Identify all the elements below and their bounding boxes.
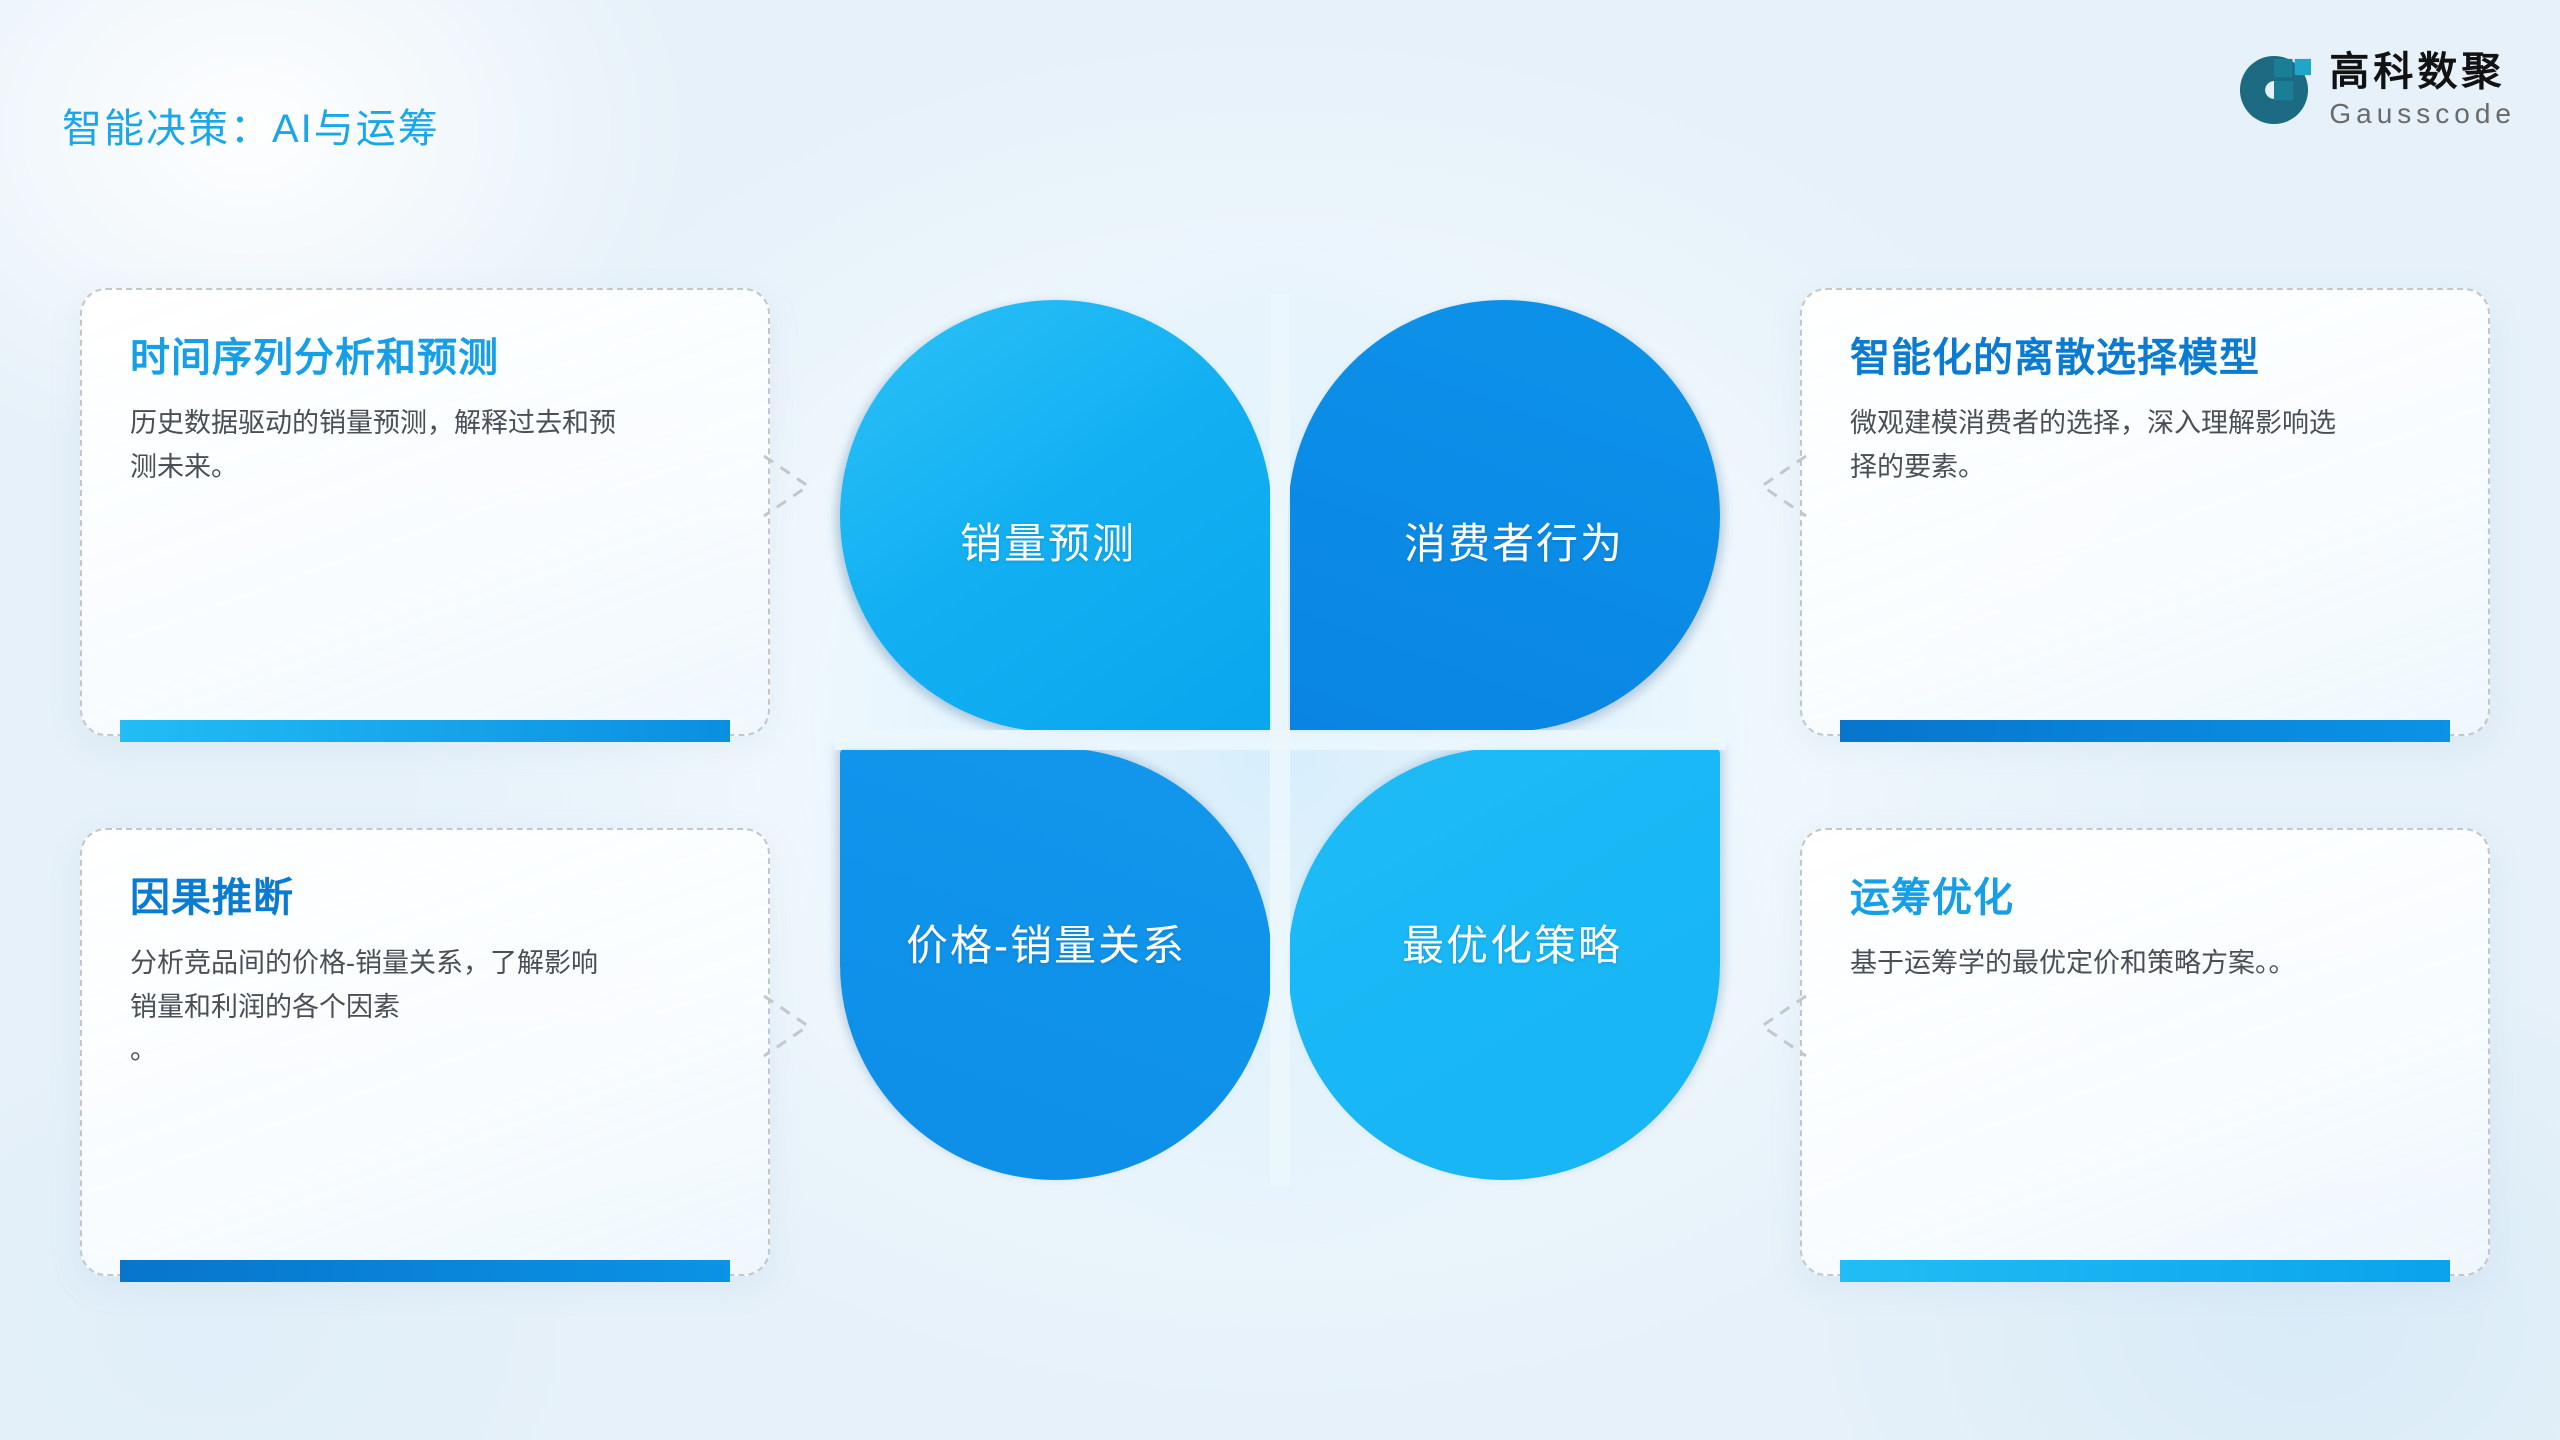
petal-sales-forecast[interactable]: 销量预测	[840, 300, 1272, 732]
card-title-time-series: 时间序列分析和预测	[130, 334, 720, 382]
petal-label-sales-forecast: 销量预测	[960, 510, 1136, 571]
petal-optimal-strategy[interactable]: 最优化策略	[1288, 748, 1720, 1180]
brand-logo: 高科数聚 Gausscode	[2237, 52, 2516, 128]
petal-label-price-volume: 价格-销量关系	[906, 912, 1186, 973]
petal-divider-vertical	[1270, 294, 1290, 1186]
petal-price-volume[interactable]: 价格-销量关系	[840, 748, 1272, 1180]
card-operations-research[interactable]: 运筹优化 基于运筹学的最优定价和策略方案。。	[1800, 828, 2490, 1276]
flower-diagram: 销量预测 消费者行为 价格-销量关系 最优化策略	[840, 300, 1720, 1180]
gausscode-logo-icon	[2237, 53, 2311, 127]
card-accent-bar-operations-research	[1840, 1260, 2450, 1282]
logo-en-name: Gausscode	[2329, 100, 2516, 128]
card-title-operations-research: 运筹优化	[1850, 874, 2440, 922]
card-body-discrete-choice: 微观建模消费者的选择，深入理解影响选 择的要素。	[1850, 402, 2440, 489]
card-accent-bar-discrete-choice	[1840, 720, 2450, 742]
card-body-operations-research: 基于运筹学的最优定价和策略方案。。	[1850, 942, 2440, 986]
card-title-causal-inference: 因果推断	[130, 874, 720, 922]
card-causal-inference[interactable]: 因果推断 分析竞品间的价格-销量关系，了解影响 销量和利润的各个因素 。	[80, 828, 770, 1276]
petal-consumer-behavior[interactable]: 消费者行为	[1288, 300, 1720, 732]
page-title: 智能决策：AI与运筹	[62, 96, 440, 154]
connector-chevron-right-icon	[762, 450, 814, 522]
card-accent-bar-time-series	[120, 720, 730, 742]
logo-cn-name: 高科数聚	[2329, 52, 2516, 92]
connector-chevron-left-icon	[1756, 990, 1808, 1062]
slide-canvas: 智能决策：AI与运筹 高科数聚 Gausscode 销量预测 消费者行为 价格-…	[0, 0, 2560, 1440]
card-accent-bar-causal-inference	[120, 1260, 730, 1282]
petal-divider-horizontal	[834, 730, 1726, 750]
card-body-causal-inference: 分析竞品间的价格-销量关系，了解影响 销量和利润的各个因素 。	[130, 942, 720, 1073]
card-title-discrete-choice: 智能化的离散选择模型	[1850, 334, 2440, 382]
card-body-time-series: 历史数据驱动的销量预测，解释过去和预 测未来。	[130, 402, 720, 489]
card-time-series[interactable]: 时间序列分析和预测 历史数据驱动的销量预测，解释过去和预 测未来。	[80, 288, 770, 736]
petal-label-optimal-strategy: 最优化策略	[1402, 912, 1622, 973]
card-discrete-choice[interactable]: 智能化的离散选择模型 微观建模消费者的选择，深入理解影响选 择的要素。	[1800, 288, 2490, 736]
connector-chevron-left-icon	[1756, 450, 1808, 522]
petal-label-consumer-behavior: 消费者行为	[1404, 510, 1624, 571]
connector-chevron-right-icon	[762, 990, 814, 1062]
